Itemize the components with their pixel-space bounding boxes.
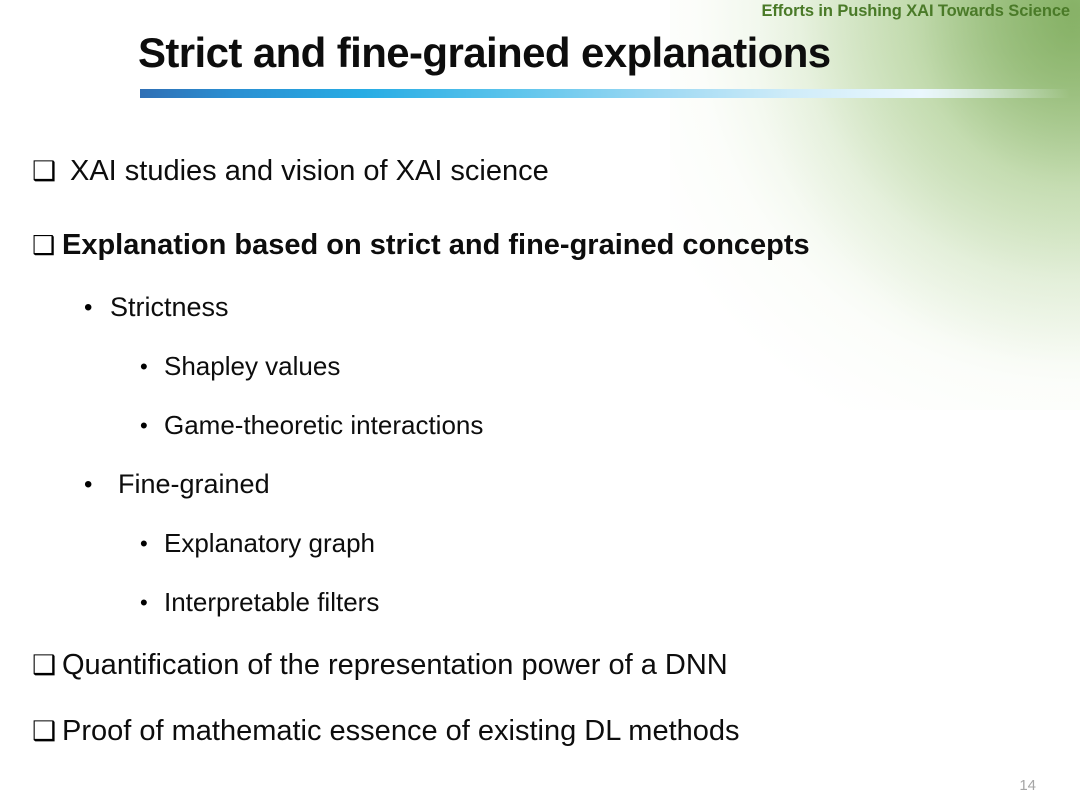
slide: Efforts in Pushing XAI Towards Science S… (0, 0, 1080, 810)
title-underline-rule (140, 89, 1070, 98)
list-item: ❑ Explanation based on strict and fine-g… (0, 212, 1080, 278)
list-item-label: Interpretable filters (164, 587, 379, 618)
list-item: • Strictness (0, 278, 1080, 337)
list-item-label: Quantification of the representation pow… (62, 649, 728, 682)
list-item: • Explanatory graph (0, 514, 1080, 573)
square-bullet-icon: ❑ (32, 232, 62, 258)
square-bullet-icon: ❑ (32, 652, 62, 679)
list-item-label: Explanation based on strict and fine-gra… (62, 229, 810, 262)
dot-bullet-icon: • (140, 592, 164, 614)
list-item: • Shapley values (0, 337, 1080, 396)
dot-bullet-icon: • (84, 473, 118, 497)
list-item: ❑ XAI studies and vision of XAI science (0, 138, 1080, 204)
list-item-label: Strictness (110, 292, 229, 323)
list-item-label: Proof of mathematic essence of existing … (62, 715, 740, 748)
list-item-label: XAI studies and vision of XAI science (70, 155, 549, 188)
spacer (0, 204, 1080, 212)
list-item: • Interpretable filters (0, 573, 1080, 632)
bullet-list: ❑ XAI studies and vision of XAI science … (0, 138, 1080, 764)
list-item-label: Fine-grained (118, 469, 270, 500)
list-item-label: Game-theoretic interactions (164, 410, 483, 441)
square-bullet-icon: ❑ (32, 718, 62, 745)
list-item: ❑ Quantification of the representation p… (0, 632, 1080, 698)
dot-bullet-icon: • (140, 533, 164, 555)
dot-bullet-icon: • (84, 296, 110, 320)
square-bullet-icon: ❑ (32, 158, 70, 185)
page-number: 14 (1019, 777, 1036, 794)
page-title: Strict and fine-grained explanations (138, 29, 831, 77)
list-item-label: Explanatory graph (164, 528, 375, 559)
dot-bullet-icon: • (140, 356, 164, 378)
slide-eyebrow-heading: Efforts in Pushing XAI Towards Science (761, 2, 1070, 21)
list-item: • Game-theoretic interactions (0, 396, 1080, 455)
list-item: ❑ Proof of mathematic essence of existin… (0, 698, 1080, 764)
list-item-label: Shapley values (164, 351, 340, 382)
list-item: • Fine-grained (0, 455, 1080, 514)
dot-bullet-icon: • (140, 415, 164, 437)
